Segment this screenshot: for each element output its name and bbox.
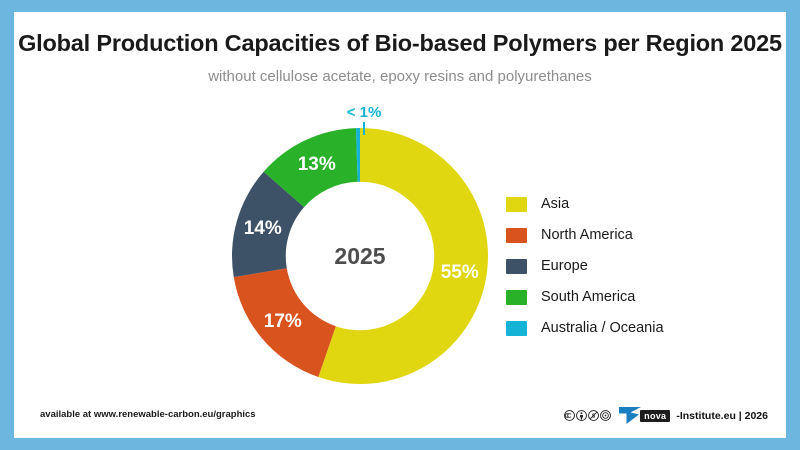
legend-label: North America	[541, 227, 633, 243]
nova-wordmark: nova	[640, 410, 670, 422]
slice-data-label: 55%	[441, 262, 479, 283]
donut-chart: 55%17%14%13% 2025 < 1%	[210, 106, 510, 406]
legend-swatch	[506, 228, 527, 243]
legend-label: Europe	[541, 258, 588, 274]
callout-leader-line	[363, 122, 365, 135]
cc-by-icon	[576, 410, 587, 421]
chart-legend: AsiaNorth AmericaEuropeSouth AmericaAust…	[506, 194, 664, 349]
slice-data-label: 17%	[264, 311, 302, 332]
page-subtitle: without cellulose acetate, epoxy resins …	[14, 68, 786, 85]
slice-label-australia-oceania: < 1%	[314, 104, 414, 121]
legend-item[interactable]: Asia	[506, 194, 664, 214]
creative-commons-icons: $	[564, 410, 611, 421]
footer-attribution: $ nova -Institute.eu | 2026	[564, 406, 768, 425]
legend-item[interactable]: North America	[506, 225, 664, 245]
legend-item[interactable]: Australia / Oceania	[506, 318, 664, 338]
cc-nd-icon	[600, 410, 611, 421]
legend-item[interactable]: Europe	[506, 256, 664, 276]
legend-label: Asia	[541, 196, 569, 212]
legend-swatch	[506, 290, 527, 305]
nova-institute-logo: nova	[617, 406, 670, 425]
slice-data-label: 14%	[244, 218, 282, 239]
legend-swatch	[506, 321, 527, 336]
donut-chart-svg: 55%17%14%13% 2025	[210, 106, 510, 406]
graphic-card: Global Production Capacities of Bio-base…	[14, 12, 786, 438]
legend-label: Australia / Oceania	[541, 320, 664, 336]
donut-center-label: 2025	[334, 243, 385, 269]
slice-data-label: 13%	[298, 154, 336, 175]
availability-note: available at www.renewable-carbon.eu/gra…	[40, 409, 256, 420]
cc-icon	[564, 410, 575, 421]
page-title: Global Production Capacities of Bio-base…	[14, 30, 786, 57]
footer-attribution-text: -Institute.eu | 2026	[676, 410, 768, 422]
legend-label: South America	[541, 289, 635, 305]
legend-item[interactable]: South America	[506, 287, 664, 307]
legend-swatch	[506, 197, 527, 212]
cc-nc-icon: $	[588, 410, 599, 421]
legend-swatch	[506, 259, 527, 274]
